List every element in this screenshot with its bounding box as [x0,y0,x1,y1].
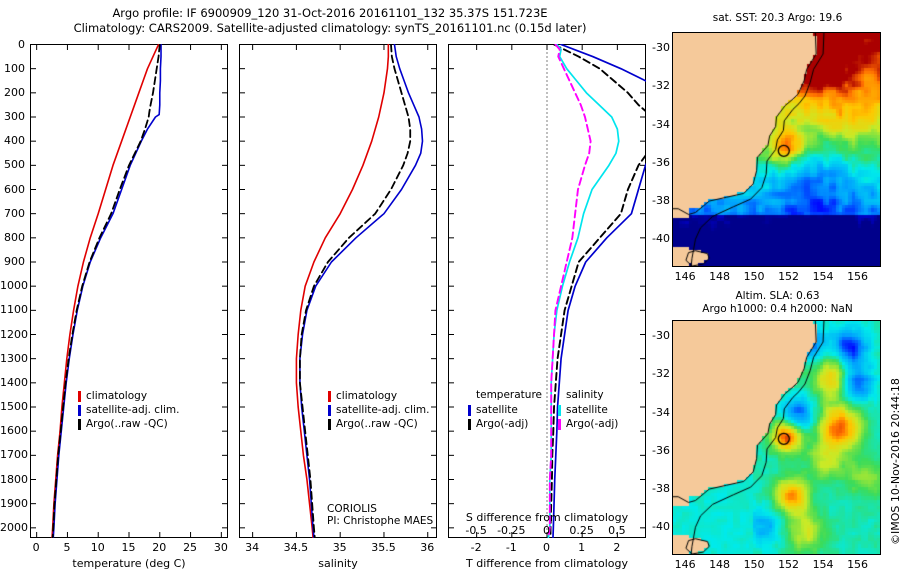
legend-swatch [558,419,561,430]
salinity-axis-label: salinity [239,557,437,570]
depth-tick-label: 1500 [0,400,25,413]
salinity-legend: climatologysatellite-adj. clim.Argo(..ra… [328,389,429,431]
map-latitude-tick: -32 [646,79,670,92]
map-latitude-tick: -34 [646,118,670,131]
salinity-difference-axis-ticks: -0.5-0.2500.250.5 [448,524,646,537]
legend-swatch [328,405,331,416]
depth-tick-label: 900 [0,255,25,268]
sst-map-longitude-ticks: 146148150152154156 [672,270,881,284]
depth-tick-label: 100 [0,62,25,75]
depth-tick-label: 800 [0,231,25,244]
depth-tick-label: 400 [0,134,25,147]
legend-label: Argo(..raw -QC) [336,418,418,430]
map-latitude-tick: -40 [646,520,670,533]
principal-investigator-label: PI: Christophe MAES [327,515,433,527]
legend-label: satellite-adj. clim. [86,404,179,416]
salinity-panel [239,44,437,538]
legend-label: Argo(..raw -QC) [86,418,168,430]
map-longitude-tick: 156 [833,558,883,571]
figure-title-line1: Argo profile: IF 6900909_120 31-Oct-2016… [0,6,660,20]
data-centre-label: CORIOLIS [327,503,377,515]
temperature-legend: climatologysatellite-adj. clim.Argo(..ra… [78,389,179,431]
imos-credit: ©IMOS 10-Nov-2016 20:44:18 [889,540,900,559]
depth-tick-label: 1600 [0,424,25,437]
map-latitude-tick: -36 [646,444,670,457]
legend-item: Argo(-adj) [558,417,618,431]
legend-item: climatology [78,389,179,403]
figure-title-line2: Climatology: CARS2009. Satellite-adjuste… [0,21,660,35]
depth-tick-label: 1700 [0,448,25,461]
depth-tick-label: 1000 [0,279,25,292]
legend-item: satellite-adj. clim. [78,403,179,417]
depth-tick-label: 1400 [0,376,25,389]
legend-label: climatology [86,390,147,402]
legend-swatch [468,405,471,416]
map-latitude-tick: -40 [646,232,670,245]
depth-tick-label: 1100 [0,303,25,316]
salinity-plot [239,44,437,538]
depth-tick-label: 1200 [0,328,25,341]
legend-swatch [78,419,81,430]
sst-map-latitude-ticks: -30-32-34-36-38-40 [646,32,670,267]
sla-map-title-line2: Argo h1000: 0.4 h2000: NaN [660,303,895,315]
legend-swatch [78,405,81,416]
depth-tick-label: 1300 [0,352,25,365]
legend-item: Argo(..raw -QC) [78,417,179,431]
depth-tick-label: 1900 [0,497,25,510]
sla-map-title-line1: Altim. SLA: 0.63 [660,290,895,302]
temperature-axis-label: temperature (deg C) [30,557,228,570]
map-latitude-tick: -32 [646,367,670,380]
map-latitude-tick: -38 [646,482,670,495]
legend-swatch [328,391,331,402]
legend-label: Argo(-adj) [476,418,528,430]
legend-label: satellite-adj. clim. [336,404,429,416]
legend-swatch [468,419,471,430]
temperature-difference-axis-ticks: -2-1012 [448,541,646,555]
legend-item: satellite-adj. clim. [328,403,429,417]
sla-map[interactable] [672,320,881,555]
axis-tick-label: 2 [587,541,647,554]
imos-credit-text: ©IMOS 10-Nov-2016 20:44:18 [889,378,900,545]
legend-label: Argo(-adj) [566,418,618,430]
legend-swatch [328,419,331,430]
legend-item: Argo(-adj) [468,417,542,431]
depth-tick-label: 300 [0,110,25,123]
sst-map-title: sat. SST: 20.3 Argo: 19.6 [660,12,895,24]
legend-group-header: temperature [476,389,542,403]
temperature-axis-ticks: 051015202530 [30,541,228,555]
legend-item: satellite [468,403,542,417]
difference-plot [448,44,646,538]
figure-root: Argo profile: IF 6900909_120 31-Oct-2016… [0,0,900,580]
difference-panel [448,44,646,538]
sst-map[interactable] [672,32,881,267]
map-latitude-tick: -30 [646,329,670,342]
depth-tick-label: 1800 [0,473,25,486]
legend-swatch [78,391,81,402]
temperature-difference-axis-label: T difference from climatology [448,557,646,570]
map-latitude-tick: -38 [646,194,670,207]
depth-axis-ticks: 0100200300400500600700800900100011001200… [0,44,27,538]
temperature-panel [30,44,228,538]
axis-tick-label: 0.5 [587,524,647,537]
salinity-difference-axis-label: S difference from climatology [448,511,646,524]
difference-legend: temperaturesatelliteArgo(-adj)salinitysa… [468,389,618,431]
depth-tick-label: 0 [0,38,25,51]
legend-label: satellite [566,404,608,416]
sla-map-longitude-ticks: 146148150152154156 [672,558,881,572]
map-latitude-tick: -34 [646,406,670,419]
legend-label: climatology [336,390,397,402]
temperature-plot [30,44,228,538]
legend-item: Argo(..raw -QC) [328,417,429,431]
sla-map-latitude-ticks: -30-32-34-36-38-40 [646,320,670,555]
legend-group-header: salinity [566,389,618,403]
salinity-axis-ticks: 3434.53535.536 [239,541,437,555]
map-longitude-tick: 156 [833,270,883,283]
legend-item: satellite [558,403,618,417]
map-latitude-tick: -36 [646,156,670,169]
depth-tick-label: 700 [0,207,25,220]
map-latitude-tick: -30 [646,41,670,54]
legend-item: climatology [328,389,429,403]
depth-tick-label: 500 [0,158,25,171]
depth-tick-label: 200 [0,86,25,99]
legend-label: satellite [476,404,518,416]
depth-tick-label: 2000 [0,521,25,534]
depth-tick-label: 600 [0,183,25,196]
legend-swatch [558,405,561,416]
